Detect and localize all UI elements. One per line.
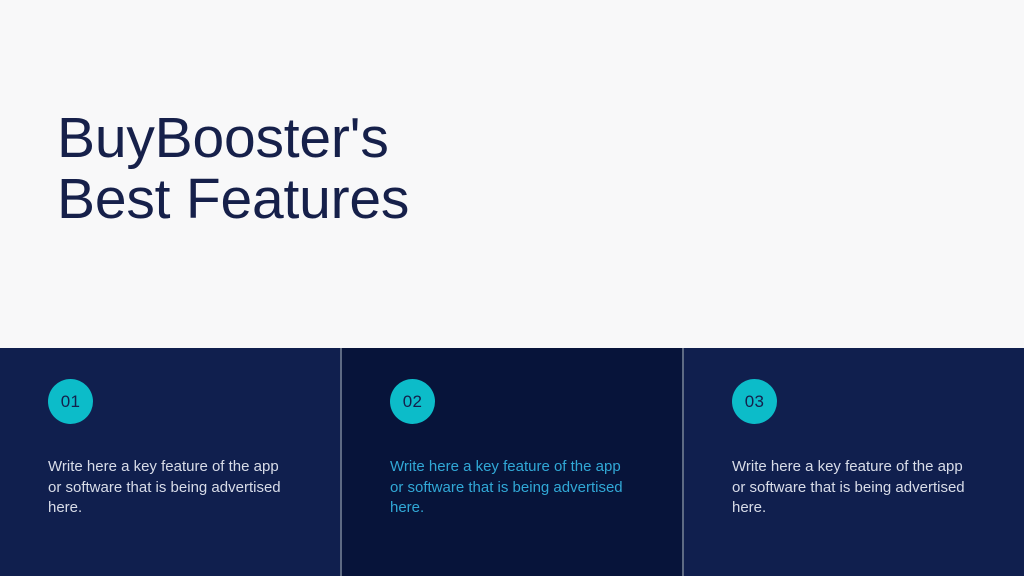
feature-number-label: 02 [403, 392, 423, 412]
feature-cards-strip: 01 Write here a key feature of the app o… [0, 348, 1024, 576]
page-title-line-1: BuyBooster's [57, 108, 409, 169]
page-title: BuyBooster'sBest Features [57, 108, 409, 230]
feature-description-02: Write here a key feature of the app or s… [390, 457, 626, 519]
feature-number-badge-01: 01 [48, 379, 93, 424]
slide-header: BuyBooster'sBest Features [0, 0, 1024, 348]
feature-card-02[interactable]: 02 Write here a key feature of the app o… [342, 348, 682, 576]
feature-description-03: Write here a key feature of the app or s… [732, 457, 968, 519]
feature-description-01: Write here a key feature of the app or s… [48, 457, 284, 519]
feature-card-03[interactable]: 03 Write here a key feature of the app o… [684, 348, 1024, 576]
feature-card-01[interactable]: 01 Write here a key feature of the app o… [0, 348, 340, 576]
feature-number-label: 01 [61, 392, 81, 412]
feature-number-badge-03: 03 [732, 379, 777, 424]
feature-number-badge-02: 02 [390, 379, 435, 424]
feature-number-label: 03 [745, 392, 765, 412]
page-title-line-2: Best Features [57, 169, 409, 230]
slide-root: BuyBooster'sBest Features 01 Write here … [0, 0, 1024, 576]
